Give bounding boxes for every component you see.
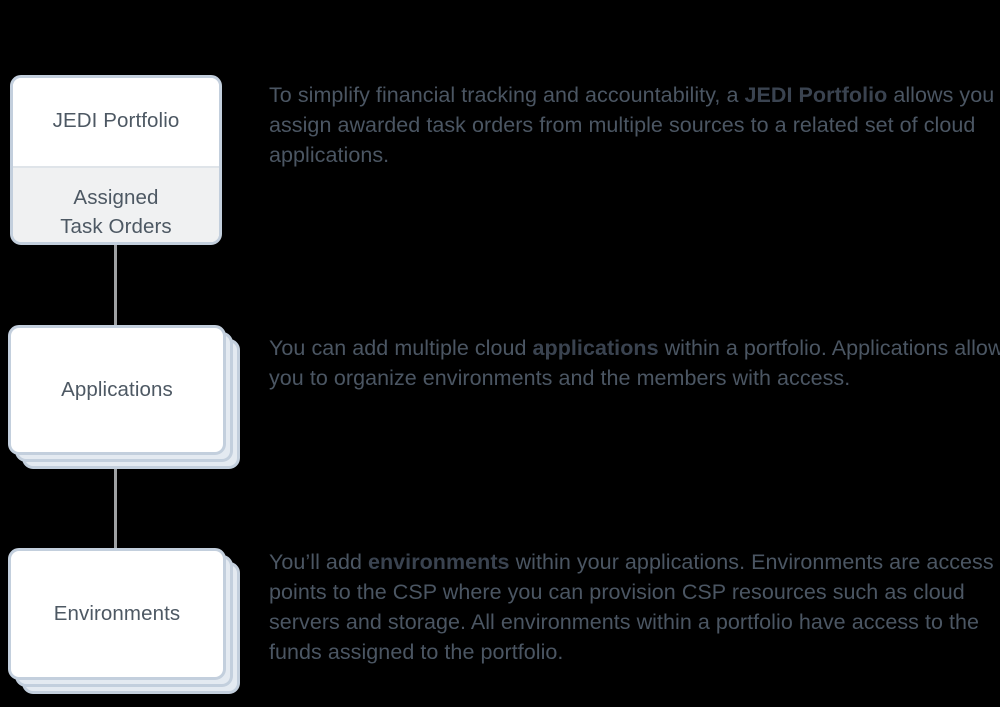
environments-label: Environments xyxy=(11,602,223,626)
assigned-task-orders-section: Assigned Task Orders xyxy=(13,168,219,242)
assigned-task-orders-line1: Assigned xyxy=(13,183,219,212)
description-portfolio-emphasis: JEDI Portfolio xyxy=(744,83,887,107)
description-environments-emphasis: environments xyxy=(368,550,510,574)
description-jedi-portfolio: To simplify financial tracking and accou… xyxy=(269,80,1000,170)
description-applications-part1: You can add multiple cloud xyxy=(269,336,533,360)
description-applications: You can add multiple cloud applications … xyxy=(269,333,1000,393)
description-environments-part1: You’ll add xyxy=(269,550,368,574)
description-portfolio-part1: To simplify financial tracking and accou… xyxy=(269,83,744,107)
applications-label: Applications xyxy=(11,378,223,402)
assigned-task-orders-line2: Task Orders xyxy=(13,212,219,241)
applications-card: Applications xyxy=(8,325,226,455)
portfolio-card: JEDI Portfolio Assigned Task Orders xyxy=(10,75,222,245)
connector-applications-to-environments xyxy=(114,468,117,550)
node-jedi-portfolio[interactable]: JEDI Portfolio Assigned Task Orders xyxy=(10,75,222,245)
connector-portfolio-to-applications xyxy=(114,244,117,328)
environments-card: Environments xyxy=(8,548,226,680)
description-applications-emphasis: applications xyxy=(533,336,659,360)
assigned-task-orders-label: Assigned Task Orders xyxy=(13,183,219,241)
portfolio-title-section: JEDI Portfolio xyxy=(13,78,219,168)
node-applications[interactable]: Applications xyxy=(8,325,240,473)
node-environments[interactable]: Environments xyxy=(8,548,240,698)
portfolio-label: JEDI Portfolio xyxy=(13,109,219,133)
diagram-canvas: JEDI Portfolio Assigned Task Orders Appl… xyxy=(0,0,1000,707)
description-environments: You’ll add environments within your appl… xyxy=(269,547,1000,667)
